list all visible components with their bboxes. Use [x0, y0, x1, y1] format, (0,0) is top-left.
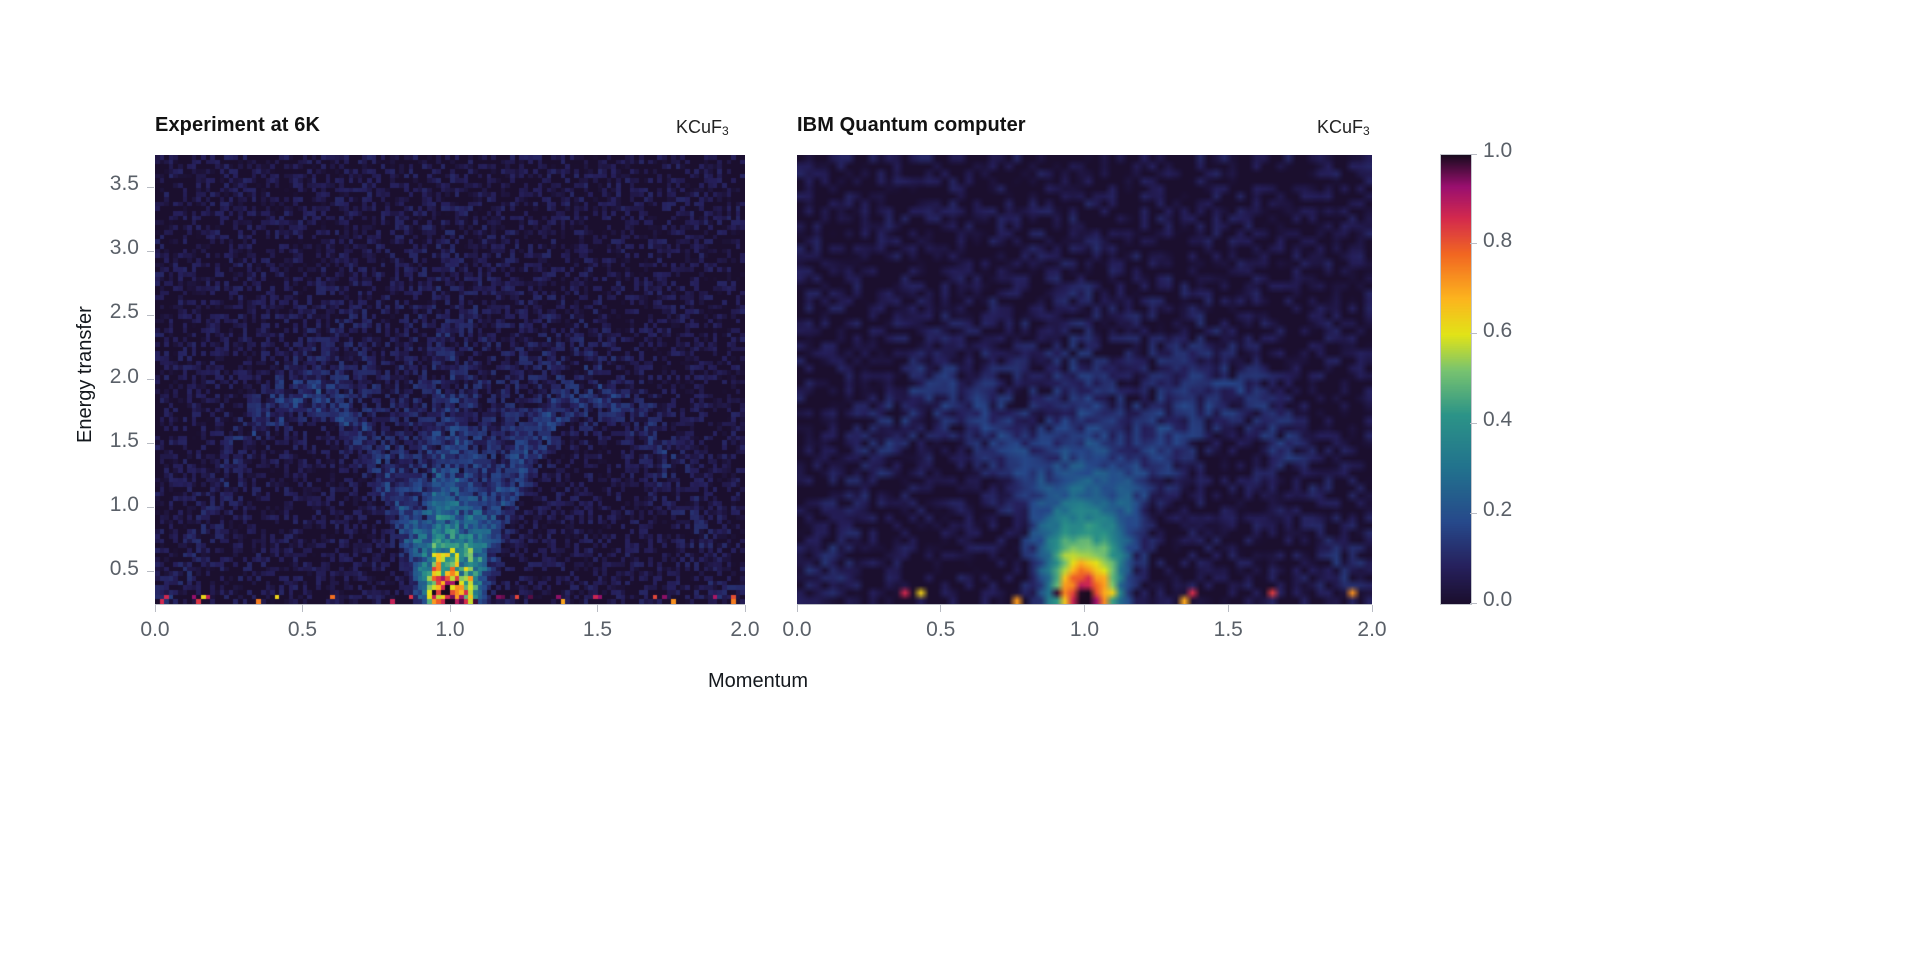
heatmap-canvas-experiment: [155, 155, 745, 604]
material-formula-text-2: KCuF: [1317, 117, 1363, 137]
x-tick-simulation-3: [1228, 605, 1229, 612]
y-tick-2: [147, 443, 154, 444]
y-tick-1: [147, 507, 154, 508]
colorbar-tick-2: [1470, 423, 1477, 424]
material-formula-text: KCuF: [676, 117, 722, 137]
y-tick-label-0: 0.5: [51, 557, 139, 581]
x-axis-title: Momentum: [708, 670, 808, 693]
colorbar-tick-label-5: 1.0: [1483, 139, 1563, 163]
heatmap-canvas-simulation: [797, 155, 1372, 604]
colorbar-tick-label-1: 0.2: [1483, 498, 1563, 522]
material-formula-subscript-2: 3: [1363, 124, 1370, 138]
material-formula-subscript: 3: [722, 124, 729, 138]
colorbar-tick-label-0: 0.0: [1483, 588, 1563, 612]
x-tick-experiment-3: [597, 605, 598, 612]
colorbar-tick-4: [1470, 243, 1477, 244]
y-tick-5: [147, 251, 154, 252]
x-tick-label-simulation-2: 1.0: [1045, 618, 1125, 642]
colorbar-gradient: [1441, 155, 1471, 604]
y-tick-4: [147, 315, 154, 316]
figure-root: Experiment at 6K KCuF3 IBM Quantum compu…: [0, 0, 1920, 964]
y-axis-title: Energy transfer: [74, 306, 97, 443]
x-tick-experiment-4: [745, 605, 746, 612]
y-tick-0: [147, 571, 154, 572]
x-tick-experiment-0: [155, 605, 156, 612]
panel-material-label-simulation: KCuF3: [1317, 117, 1370, 138]
colorbar-tick-5: [1470, 154, 1477, 155]
x-tick-label-simulation-1: 0.5: [901, 618, 981, 642]
heatmap-simulation[interactable]: [797, 155, 1372, 604]
colorbar-tick-0: [1470, 603, 1477, 604]
x-tick-label-experiment-3: 1.5: [558, 618, 638, 642]
y-tick-label-5: 3.0: [51, 236, 139, 260]
x-tick-experiment-1: [302, 605, 303, 612]
x-tick-label-experiment-2: 1.0: [410, 618, 490, 642]
x-tick-experiment-2: [450, 605, 451, 612]
x-tick-simulation-4: [1372, 605, 1373, 612]
panel-title-experiment: Experiment at 6K: [155, 114, 320, 137]
x-tick-label-experiment-0: 0.0: [115, 618, 195, 642]
y-tick-6: [147, 187, 154, 188]
x-tick-label-simulation-3: 1.5: [1188, 618, 1268, 642]
x-tick-simulation-2: [1084, 605, 1085, 612]
y-tick-label-1: 1.0: [51, 493, 139, 517]
colorbar-tick-1: [1470, 513, 1477, 514]
x-tick-label-experiment-1: 0.5: [263, 618, 343, 642]
colorbar-tick-label-4: 0.8: [1483, 229, 1563, 253]
x-tick-simulation-0: [797, 605, 798, 612]
colorbar-tick-label-2: 0.4: [1483, 408, 1563, 432]
colorbar[interactable]: [1441, 155, 1471, 604]
heatmap-experiment[interactable]: [155, 155, 745, 604]
colorbar-tick-label-3: 0.6: [1483, 319, 1563, 343]
y-tick-label-6: 3.5: [51, 172, 139, 196]
y-tick-3: [147, 379, 154, 380]
x-tick-label-simulation-4: 2.0: [1332, 618, 1412, 642]
x-tick-simulation-1: [940, 605, 941, 612]
x-tick-label-simulation-0: 0.0: [757, 618, 837, 642]
panel-material-label-experiment: KCuF3: [676, 117, 729, 138]
colorbar-tick-3: [1470, 333, 1477, 334]
panel-title-simulation: IBM Quantum computer: [797, 114, 1026, 137]
